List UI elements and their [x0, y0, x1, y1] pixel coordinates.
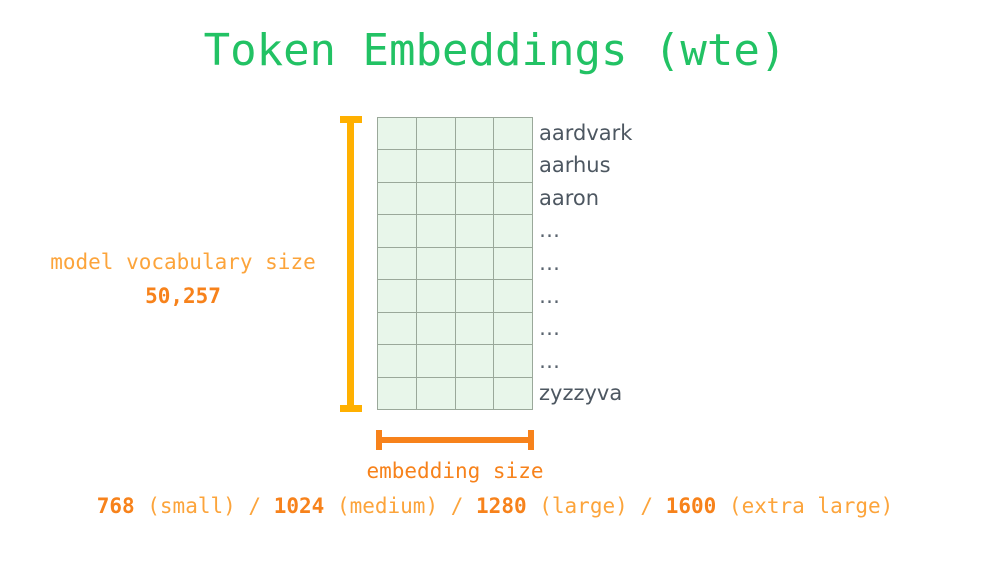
matrix-cell: [378, 313, 417, 345]
matrix-cell: [378, 118, 417, 150]
size-name: (small): [135, 494, 236, 518]
token-row-label: …: [539, 280, 759, 313]
matrix-cell: [456, 378, 495, 410]
bracket-stem-icon: [347, 116, 354, 412]
vocabulary-size-value: 50,257: [24, 283, 342, 309]
size-name: (large): [527, 494, 628, 518]
token-row-labels: aardvarkaarhusaaron……………zyzzyva: [539, 117, 759, 410]
size-number: 1024: [274, 494, 325, 518]
matrix-cell: [494, 215, 533, 247]
size-separator: /: [236, 494, 274, 518]
matrix-cell: [378, 215, 417, 247]
matrix-cell: [417, 118, 456, 150]
matrix-cell: [494, 183, 533, 215]
matrix-cell: [378, 280, 417, 312]
token-row-label: …: [539, 345, 759, 378]
size-separator: /: [438, 494, 476, 518]
token-row-label: aarhus: [539, 150, 759, 183]
matrix-cell: [494, 118, 533, 150]
matrix-cell: [378, 248, 417, 280]
size-number: 768: [97, 494, 135, 518]
vocabulary-size-label: model vocabulary size: [24, 249, 342, 275]
matrix-cell: [417, 345, 456, 377]
matrix-cell: [378, 150, 417, 182]
embedding-matrix-grid: [377, 117, 533, 410]
matrix-cell: [456, 345, 495, 377]
matrix-cell: [378, 378, 417, 410]
size-separator: /: [628, 494, 666, 518]
matrix-cell: [417, 183, 456, 215]
matrix-cell: [456, 183, 495, 215]
bracket-cap-bottom-icon: [340, 405, 362, 412]
size-name: (extra large): [716, 494, 893, 518]
token-row-label: …: [539, 247, 759, 280]
diagram-canvas: Token Embeddings (wte) model vocabulary …: [0, 0, 990, 571]
matrix-cell: [456, 248, 495, 280]
token-row-label: aaron: [539, 182, 759, 215]
matrix-cell: [456, 313, 495, 345]
size-number: 1280: [476, 494, 527, 518]
bracket-bar-icon: [376, 437, 534, 443]
matrix-cell: [494, 248, 533, 280]
matrix-cell: [494, 378, 533, 410]
page-title: Token Embeddings (wte): [0, 24, 990, 78]
bracket-cap-right-icon: [528, 430, 534, 450]
matrix-cell: [417, 150, 456, 182]
embedding-size-label: embedding size: [295, 458, 615, 484]
token-row-label: aardvark: [539, 117, 759, 150]
matrix-cell: [378, 183, 417, 215]
size-name: (medium): [324, 494, 438, 518]
matrix-cell: [456, 150, 495, 182]
matrix-cell: [417, 280, 456, 312]
model-size-variants: 768 (small) / 1024 (medium) / 1280 (larg…: [0, 492, 990, 520]
embedding-size-bracket: [376, 430, 534, 450]
matrix-cell: [417, 378, 456, 410]
matrix-cell: [494, 280, 533, 312]
matrix-cell: [456, 280, 495, 312]
matrix-cell: [494, 345, 533, 377]
token-row-label: …: [539, 215, 759, 248]
matrix-cell: [494, 313, 533, 345]
matrix-cell: [417, 248, 456, 280]
vocabulary-size-bracket: [340, 116, 362, 412]
matrix-cell: [494, 150, 533, 182]
token-row-label: …: [539, 312, 759, 345]
size-number: 1600: [666, 494, 717, 518]
matrix-cell: [417, 215, 456, 247]
token-row-label: zyzzyva: [539, 378, 759, 411]
matrix-cell: [378, 345, 417, 377]
matrix-cell: [456, 118, 495, 150]
matrix-cell: [456, 215, 495, 247]
matrix-cell: [417, 313, 456, 345]
